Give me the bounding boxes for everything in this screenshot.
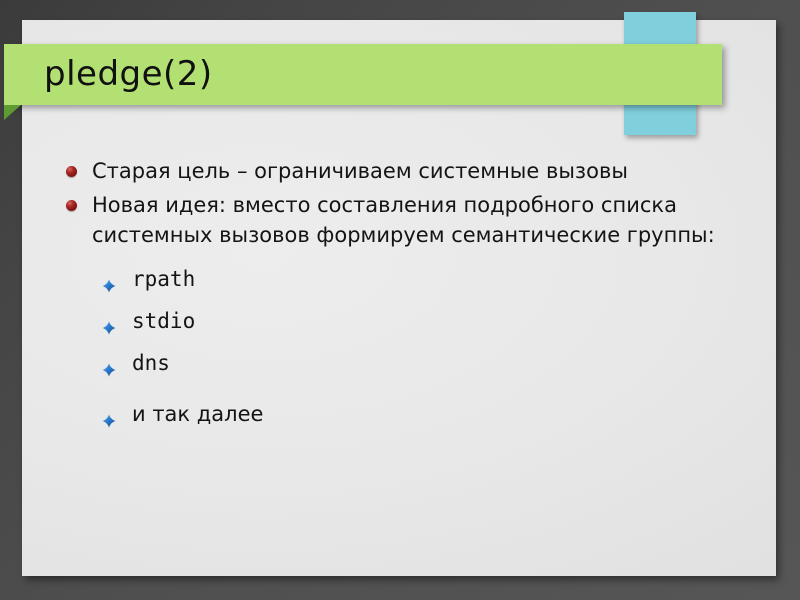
star-bullet-icon [102,407,116,421]
slide-body: Старая цель – ограничиваем системные выз… [44,156,798,441]
slide-viewer: Старая цель – ограничиваем системные выз… [0,0,800,600]
sub-bullet-list: rpath stdio dns [44,264,798,430]
sub-list-spacer [44,390,798,399]
sub-bullet-text: stdio [132,309,195,333]
title-band-fold-corner [4,105,21,120]
sub-list-item-rpath: rpath [44,264,798,295]
bullet-text-line-2: системных вызовов формируем семантически… [92,220,798,250]
sub-list-item-etc: и так далее [44,399,798,430]
sphere-bullet-icon [66,166,77,177]
sphere-bullet-icon [66,200,77,211]
bullet-text: Старая цель – ограничиваем системные выз… [92,156,798,186]
page-title: pledge(2) [44,52,213,97]
list-item: Новая идея: вместо составления подробног… [44,190,798,250]
sub-bullet-text: rpath [132,267,195,291]
star-bullet-icon [102,356,116,370]
main-bullet-list: Старая цель – ограничиваем системные выз… [44,156,798,250]
star-bullet-icon [102,272,116,286]
sub-bullet-text: и так далее [132,402,263,426]
bullet-text-line-1: Новая идея: вместо составления подробног… [92,190,798,220]
list-item: Старая цель – ограничиваем системные выз… [44,156,798,186]
sub-list-item-dns: dns [44,348,798,379]
star-bullet-icon [102,314,116,328]
sub-bullet-text: dns [132,351,170,375]
sub-list-item-stdio: stdio [44,306,798,337]
